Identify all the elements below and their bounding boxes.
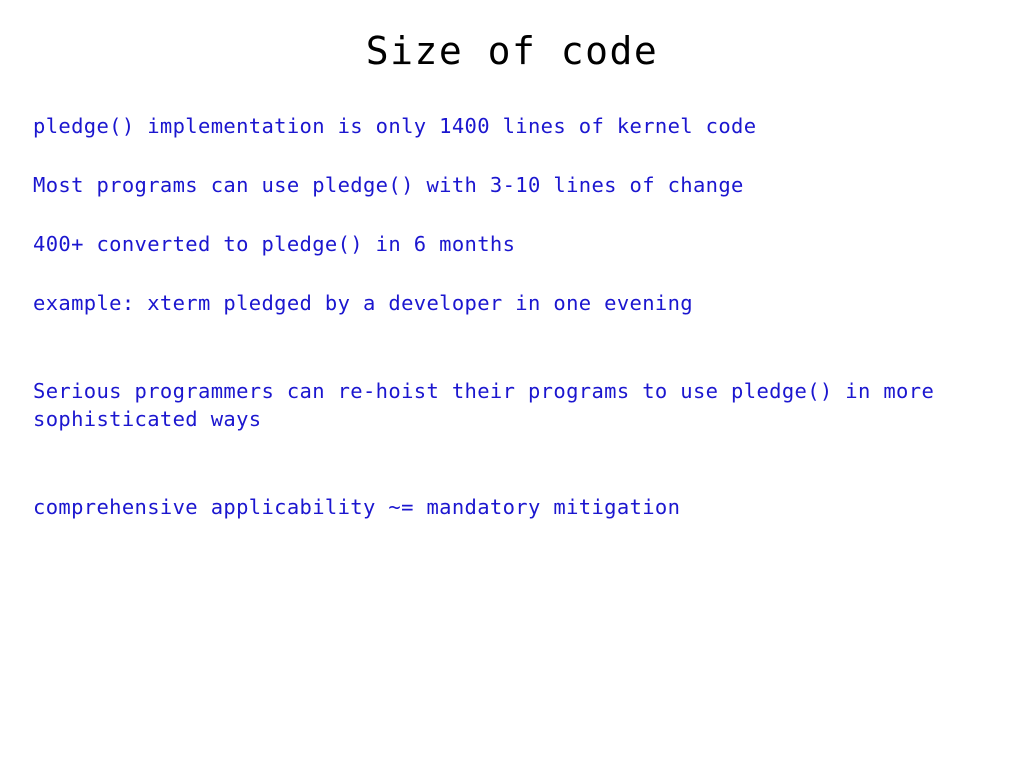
body-line-1: pledge() implementation is only 1400 lin… — [33, 112, 993, 140]
slide-body: pledge() implementation is only 1400 lin… — [33, 112, 993, 521]
page-title: Size of code — [0, 28, 1024, 74]
slide: Size of code pledge() implementation is … — [0, 0, 1024, 768]
body-line-2: Most programs can use pledge() with 3-10… — [33, 171, 993, 199]
body-line-4: example: xterm pledged by a developer in… — [33, 289, 993, 317]
body-line-6: comprehensive applicability ~= mandatory… — [33, 493, 993, 521]
body-line-3: 400+ converted to pledge() in 6 months — [33, 230, 993, 258]
body-line-5: Serious programmers can re-hoist their p… — [33, 377, 978, 433]
